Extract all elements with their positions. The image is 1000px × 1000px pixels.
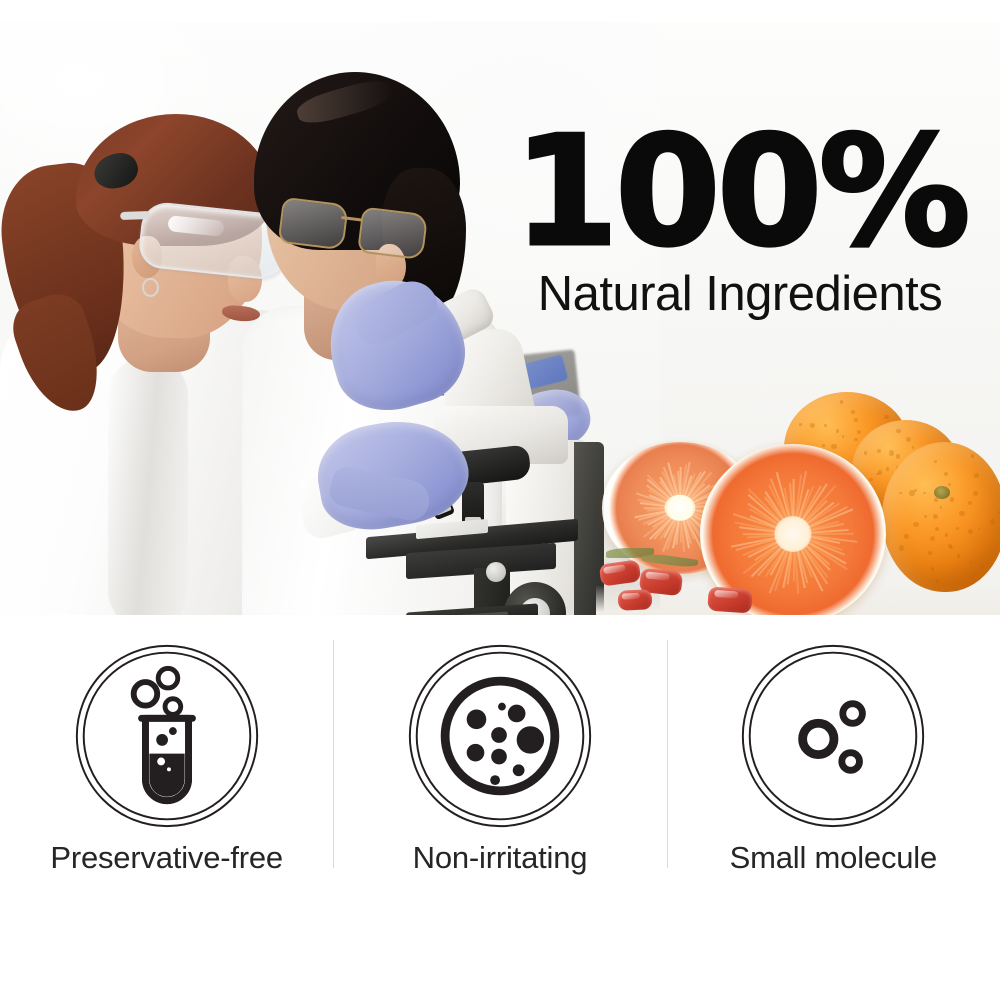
orange-peel-pore <box>877 449 881 453</box>
eyeglass-lens-right <box>357 207 428 261</box>
orange-peel-pore <box>956 527 959 530</box>
orange-peel-pore <box>978 528 981 531</box>
orange-peel-pore <box>968 501 972 505</box>
petri-dish-icon <box>402 638 598 834</box>
orange-peel-pore <box>924 515 927 518</box>
orange-peel-pore <box>944 472 948 476</box>
orange-peel-pore <box>912 446 915 449</box>
orange-peel-pore <box>948 483 952 487</box>
orange-peel-pore <box>864 451 868 455</box>
orange-peel-pore <box>971 454 975 458</box>
orange-peel-pore <box>842 435 845 438</box>
orange-peel-pore <box>909 490 914 495</box>
test-tube-icon <box>69 638 265 834</box>
earring <box>142 278 159 297</box>
product-infographic: 100% Natural Ingredients <box>0 0 1000 1000</box>
orange-peel-pore <box>886 467 890 471</box>
hero-photo-band: 100% Natural Ingredients <box>0 22 1000 615</box>
orange-peel-pore <box>857 430 861 434</box>
orange-peel-pore <box>854 418 858 422</box>
orange-peel-pore <box>884 415 888 419</box>
orange-peel-pore <box>851 410 855 414</box>
feature-preservative-free: Preservative-free <box>0 620 333 920</box>
orange-peel-pore <box>904 534 908 538</box>
orange-peel-pore <box>940 506 943 509</box>
fine-focus-knob <box>486 562 506 582</box>
orange-peel-pore <box>896 429 900 433</box>
orange-peel-pore <box>968 529 973 534</box>
capsule <box>617 589 652 611</box>
orange-peel-pore <box>840 400 844 404</box>
feature-label: Small molecule <box>730 840 937 876</box>
orange-peel-pore <box>836 429 840 433</box>
whole-orange <box>882 442 1000 592</box>
orange-peel-pore <box>945 533 949 537</box>
orange-peel-pore <box>799 423 802 426</box>
orange-peel-pore <box>824 424 827 427</box>
orange-peel-pore <box>933 514 938 519</box>
orange-peel-pore <box>822 444 825 447</box>
orange-peel-pore <box>854 438 858 442</box>
orange-peel-pore <box>869 478 873 482</box>
orange-peel-pore <box>930 536 935 541</box>
orange-peel-pore <box>935 527 939 531</box>
orange-peel-pore <box>974 473 978 477</box>
orange-peel-pore <box>970 561 973 564</box>
orange-peel-pore <box>980 565 984 569</box>
orange-peel-pore <box>906 437 911 442</box>
orange-peel-pore <box>831 444 836 449</box>
feature-badges-row: Preservative-free N <box>0 620 1000 920</box>
feature-non-irritating: Non-irritating <box>333 620 666 920</box>
orange-peel-pore <box>973 491 978 496</box>
orange-peel-pore <box>810 423 815 428</box>
capsule <box>707 586 753 613</box>
orange-peel-pore <box>957 554 961 558</box>
herb-sprig <box>642 552 699 569</box>
orange-peel-pore <box>934 498 938 502</box>
red-capsules <box>596 546 786 615</box>
feature-small-molecule: Small molecule <box>667 620 1000 920</box>
orange-peel-pore <box>950 546 953 549</box>
orange-peel-pore <box>959 511 964 516</box>
capsule <box>599 559 642 586</box>
orange-peel-pore <box>896 454 900 458</box>
molecule-rings-icon <box>735 638 931 834</box>
microscope-base <box>406 603 538 615</box>
orange-peel-pore <box>928 551 932 555</box>
orange-peel-pore <box>990 519 995 524</box>
orange-peel-pore <box>899 492 902 495</box>
orange-peel-pore <box>889 450 894 455</box>
orange-peel-pore <box>934 460 938 464</box>
orange-peel-pore <box>899 545 904 550</box>
orange-peel-pore <box>923 492 926 495</box>
orange-peel-pore <box>913 522 918 527</box>
orange-peel-pore <box>931 567 935 571</box>
orange-peel-pore <box>950 497 954 501</box>
orange-peel-pore <box>935 579 939 583</box>
orange-peel-pore <box>876 473 879 476</box>
feature-label: Preservative-free <box>50 840 283 876</box>
fruit-arrangement <box>596 394 1000 615</box>
feature-label: Non-irritating <box>413 840 588 876</box>
eyeglass-lens-left <box>278 197 349 251</box>
lab-photograph: 100% Natural Ingredients <box>0 22 1000 615</box>
